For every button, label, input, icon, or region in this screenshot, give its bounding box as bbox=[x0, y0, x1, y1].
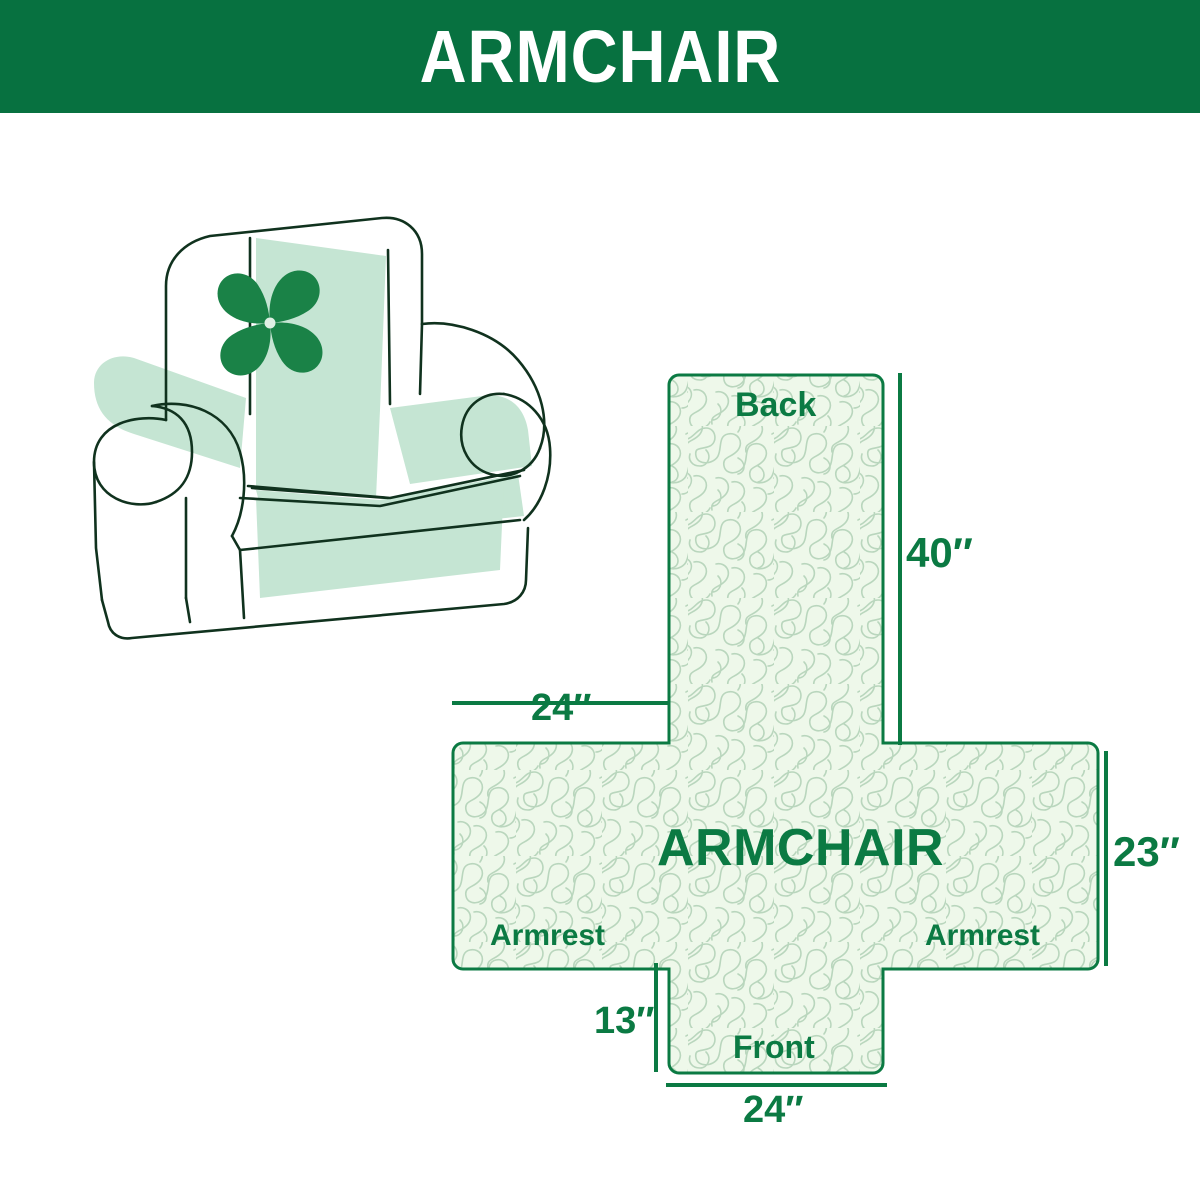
product-dimension-diagram: ARMCHAIR bbox=[0, 0, 1200, 1200]
dimension-label-front-width: 24″ bbox=[743, 1089, 803, 1132]
panel-label-armrest-left: Armrest bbox=[490, 919, 605, 953]
panel-label-front: Front bbox=[733, 1029, 815, 1066]
panel-label-back: Back bbox=[735, 386, 816, 425]
panel-label-armrest-right: Armrest bbox=[925, 919, 1040, 953]
dimension-label-center-height: 23″ bbox=[1113, 828, 1180, 876]
header-banner: ARMCHAIR bbox=[0, 0, 1200, 113]
dimension-label-front-height: 13″ bbox=[594, 1000, 654, 1043]
dimension-label-back-width: 24″ bbox=[531, 687, 591, 730]
cover-pattern-fill bbox=[430, 340, 1200, 1130]
panel-label-armchair: ARMCHAIR bbox=[657, 818, 944, 878]
dimension-label-back-height: 40″ bbox=[906, 529, 973, 577]
page-title: ARMCHAIR bbox=[419, 20, 781, 94]
cover-flat-layout bbox=[430, 340, 1200, 1130]
